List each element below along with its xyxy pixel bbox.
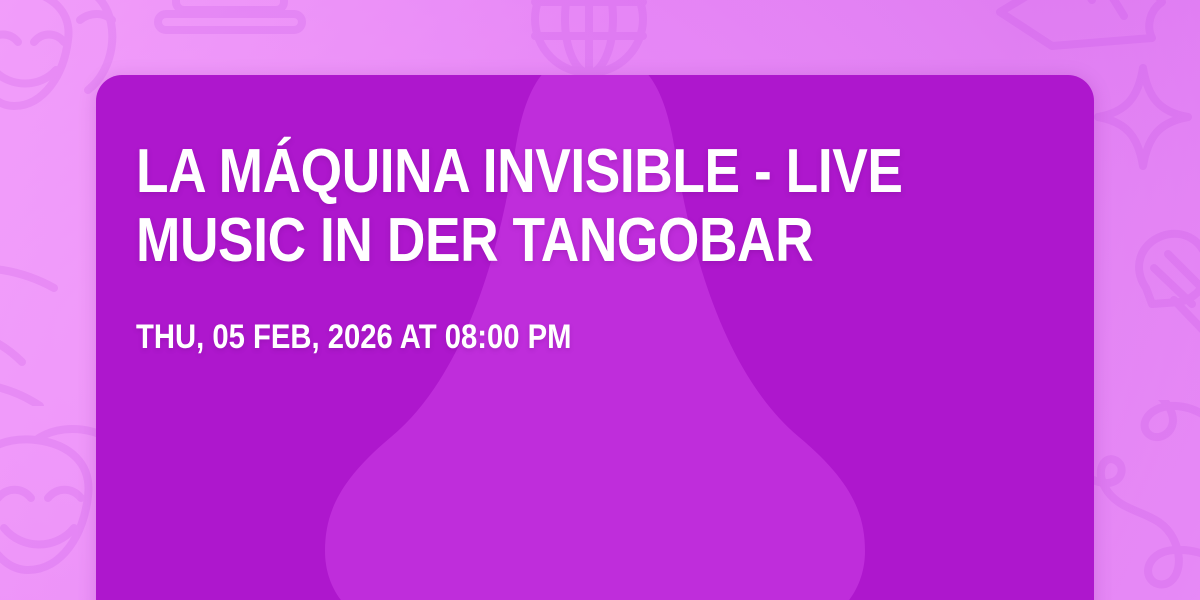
streamer-swirl-icon — [1078, 400, 1200, 600]
event-card-content: LA MÁQUINA INVISIBLE - LIVE MUSIC IN DER… — [96, 75, 1094, 600]
globe-icon — [524, 0, 654, 84]
confetti-swirl-icon — [0, 236, 86, 406]
laptop-icon — [150, 0, 310, 56]
event-date: THU, 05 FEB, 2026 AT 08:00 PM — [136, 318, 912, 357]
ticket-icon — [980, 0, 1180, 58]
sparkle-icon — [1088, 58, 1198, 176]
event-title: LA MÁQUINA INVISIBLE - LIVE MUSIC IN DER… — [136, 137, 912, 276]
event-banner: LA MÁQUINA INVISIBLE - LIVE MUSIC IN DER… — [0, 0, 1200, 600]
event-card[interactable]: LA MÁQUINA INVISIBLE - LIVE MUSIC IN DER… — [96, 75, 1094, 600]
microphone-icon — [1112, 226, 1200, 366]
